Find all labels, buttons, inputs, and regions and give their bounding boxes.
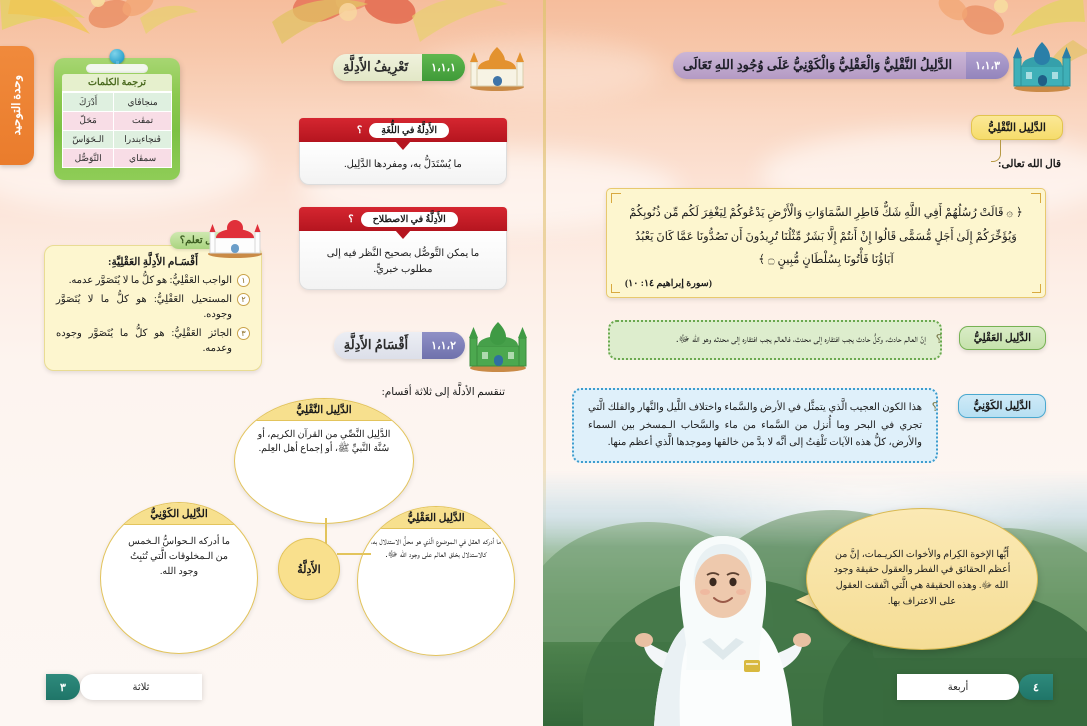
item-text: الواجب العَقْلِيُّ: هو كلُّ ما لا يُتَصَ… [56, 273, 232, 288]
evidence-hub: الأَدِلَّةُ [278, 538, 340, 600]
diagram-connector [325, 518, 327, 544]
vocab-translation: تمڤت [114, 111, 172, 130]
bubble-text: الدَّلِيل النَّصِّي من القرآن الكريم، أو… [235, 421, 413, 464]
callout-text: هذا الكون العجيب الَّذي يتمثَّل في الأرض… [572, 388, 938, 463]
section-title: تَعْرِيفُ الأَدِلَّةِ [333, 59, 422, 75]
evidence-bubble-aqli: الدَّلِيل العَقْلِيُّ ما أدركه العقل في … [357, 506, 515, 656]
vocab-arabic: مَحَلّ [63, 111, 114, 130]
page-number: ٤ [1019, 674, 1053, 700]
squiggle-icon: ؟ [932, 400, 938, 415]
page-word: ثلاثة [80, 674, 202, 700]
section-header-1: ١،١،١ تَعْرِيفُ الأَدِلَّةِ [333, 52, 519, 82]
quran-verse-text: ﴿ ۞ قَالَتْ رُسُلُهُمْ أَفِي اللَّهِ شَك… [625, 202, 1027, 273]
vocabulary-table: منجاڤاي أَدْرَكَ تمڤت مَحَلّ ڤنچاءيندرا … [62, 92, 172, 168]
definition-chip: الأَدِلَّةُ في اللُّغَةِ [369, 123, 449, 138]
list-item: ٢ المستحيل العَقْلِيُّ: هو كلُّ ما لا يُ… [56, 292, 250, 322]
evidence-diagram: الدَّلِيل النَّقْلِيُّ الدَّلِيل النَّصِ… [82, 398, 512, 658]
bubble-title: الدَّلِيل العَقْلِيُّ [358, 507, 514, 529]
callout-kawni: الدَّلِيل الكَوْنِيُّ ؟ هذا الكون العجيب… [572, 388, 1046, 463]
vocab-translation: سمڤاي [114, 149, 172, 168]
section-header-2: ١،١،٢ أَقْسَامُ الأَدِلَّةِ [334, 330, 519, 360]
definition-box-terminology: الأَدِلَّةُ في الاصطلاح ؟ ما يمكن التَّو… [299, 207, 507, 290]
section-pill: ١،١،٣ الدَّلِيلُ النَّقْلِيُّ وَالْعَقْل… [673, 52, 1009, 79]
vocab-translation: منجاڤاي [114, 93, 172, 112]
item-text: المستحيل العَقْلِيُّ: هو كلُّ ما لا يُتَ… [56, 292, 232, 322]
item-number: ٣ [237, 327, 250, 340]
student-character-illustration [628, 520, 818, 726]
definition-header: الأَدِلَّةُ في الاصطلاح ؟ [299, 207, 507, 231]
mosque-icon [465, 318, 531, 372]
table-row: منجاڤاي أَدْرَكَ [63, 93, 172, 112]
divisions-intro-line: تنقسم الأدلَّة إلى ثلاثة أقسام: [382, 386, 505, 398]
corner-ornament [611, 284, 620, 293]
list-item: ١ الواجب العَقْلِيُّ: هو كلُّ ما لا يُتَ… [56, 273, 250, 288]
item-text: الجائز العَقْلِيُّ: هو كلُّ ما يُتَصَوَّ… [56, 326, 232, 356]
speech-bubble-text: أَيُّها الإخوة الكِرام والأخوات الكريـما… [807, 548, 1037, 611]
squiggle-icon: ؟ [936, 332, 942, 347]
definition-box-language: الأَدِلَّةُ في اللُّغَةِ ؟ ما يُسْتَدَلُ… [299, 118, 507, 185]
bubble-text: ما أدركه العقل في الـموضوع الَّذي هو محل… [358, 529, 514, 567]
section-number: ١،١،١ [422, 54, 465, 81]
callout-tag: الدَّلِيل العَقْلِيُّ [959, 326, 1046, 350]
callout-text: إنَّ العالم حادث، وكلُّ حادث يجب افتقاره… [608, 320, 942, 360]
page-word: أربعة [897, 674, 1019, 700]
mosque-icon [465, 43, 529, 91]
callout-tag: الدَّلِيل الكَوْنِيُّ [958, 394, 1046, 418]
quran-intro-line: قال الله تعالى: [998, 158, 1061, 170]
quran-verse-reference: (سورة إبراهيم ١٤: ١٠) [625, 278, 1027, 289]
table-row: سمڤاي التَّوَصُّل [63, 149, 172, 168]
speech-bubble: أَيُّها الإخوة الكِرام والأخوات الكريـما… [806, 508, 1038, 650]
pin-strip [86, 64, 148, 73]
section-number: ١،١،٣ [966, 52, 1009, 79]
page-number: ٣ [46, 674, 80, 700]
evidence-bubble-kawni: الدَّلِيل الكَوْنِيُّ ما أدركه الـحواسُّ… [100, 502, 258, 654]
item-number: ٢ [237, 293, 250, 306]
table-row: تمڤت مَحَلّ [63, 111, 172, 130]
textbook-spread: وحدة التوحيد ترجمة الكلمات منجاڤاي أَدْر… [0, 0, 1087, 726]
pin-icon [110, 49, 125, 64]
unit-spine-tab[interactable]: وحدة التوحيد [0, 46, 34, 165]
section-pill: ١،١،١ تَعْرِيفُ الأَدِلَّةِ [333, 54, 465, 81]
bubble-title: الدَّلِيل الكَوْنِيُّ [101, 503, 257, 525]
definition-header: الأَدِلَّةُ في اللُّغَةِ ؟ [299, 118, 507, 142]
section-number: ١،١،٢ [422, 332, 465, 359]
naqli-evidence-tag: الدَّلِيل النَّقْلِيُّ [971, 115, 1063, 140]
section-title: الدَّلِيلُ النَّقْلِيُّ وَالْعَقْلِيُّ و… [673, 57, 966, 73]
vocabulary-card: ترجمة الكلمات منجاڤاي أَدْرَكَ تمڤت مَحَ… [54, 58, 180, 180]
bubble-title: الدَّلِيل النَّقْلِيُّ [235, 399, 413, 421]
did-you-know-body: أَقْسَـام الأَدِلَّةِ العَقْلِيَّةِ: ١ ا… [44, 245, 262, 371]
definition-chip: الأَدِلَّةُ في الاصطلاح [361, 212, 458, 227]
section-title: أَقْسَامُ الأَدِلَّةِ [334, 337, 422, 353]
did-you-know-box: هل تعلم؟ أَقْسَـام الأَدِلَّةِ العَقْلِي… [44, 232, 262, 371]
section-pill: ١،١،٢ أَقْسَامُ الأَدِلَّةِ [334, 332, 465, 359]
page-footer-left: ثلاثة ٣ [46, 674, 202, 700]
quran-verse-box: ﴿ ۞ قَالَتْ رُسُلُهُمْ أَفِي اللَّهِ شَك… [606, 188, 1046, 298]
definition-body: ما يُسْتَدَلُّ به، ومفردها الدَّلِيل. [299, 142, 507, 185]
page-footer-right: ٤ أربعة [897, 674, 1053, 700]
spine-tab-label: وحدة التوحيد [10, 75, 24, 135]
vocab-arabic: أَدْرَكَ [63, 93, 114, 112]
vocabulary-title: ترجمة الكلمات [62, 74, 172, 92]
question-mark-icon: ؟ [357, 125, 362, 136]
corner-ornament [1032, 284, 1041, 293]
callout-aqli: الدَّلِيل العَقْلِيُّ ؟ إنَّ العالم حادث… [608, 320, 1046, 360]
vocab-arabic: التَّوَصُّل [63, 149, 114, 168]
question-mark-icon: ؟ [348, 214, 353, 225]
item-number: ١ [237, 274, 250, 287]
list-item: ٣ الجائز العَقْلِيُّ: هو كلُّ ما يُتَصَو… [56, 326, 250, 356]
section-header-3: ١،١،٣ الدَّلِيلُ النَّقْلِيُّ وَالْعَقْل… [673, 50, 1063, 80]
diagram-connector [337, 553, 371, 555]
mosque-icon [1009, 38, 1075, 92]
bubble-text: ما أدركه الـحواسُّ الـخمس من الـمخلوقات … [101, 525, 257, 591]
mosque-icon [204, 216, 266, 258]
table-row: ڤنچاءيندرا الـحَوَاسّ [63, 130, 172, 149]
definition-body: ما يمكن التَّوصُّل بصحيح النَّظر فيه إلى… [299, 231, 507, 290]
vocab-translation: ڤنچاءيندرا [114, 130, 172, 149]
vocab-arabic: الـحَوَاسّ [63, 130, 114, 149]
evidence-bubble-naqli: الدَّلِيل النَّقْلِيُّ الدَّلِيل النَّصِ… [234, 398, 414, 524]
left-page: وحدة التوحيد ترجمة الكلمات منجاڤاي أَدْر… [0, 0, 543, 726]
